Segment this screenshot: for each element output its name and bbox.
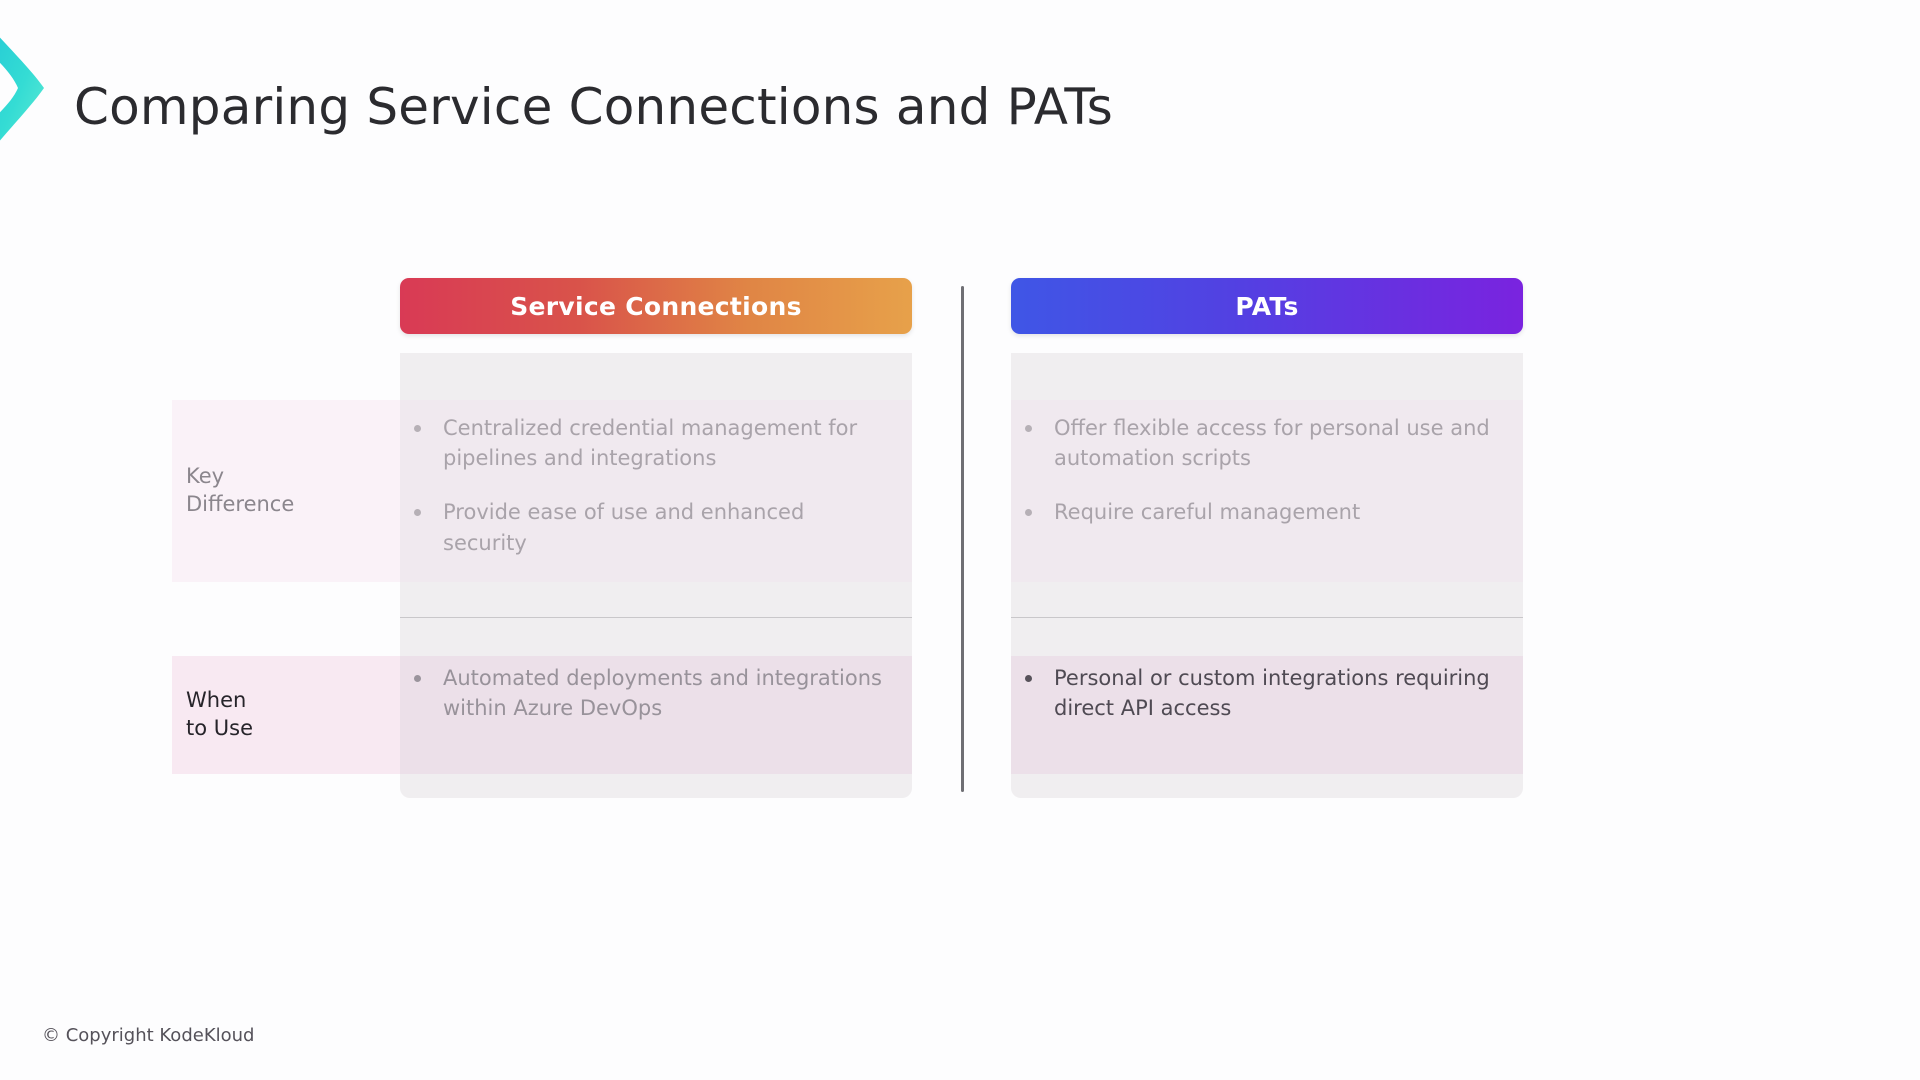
- bullet-icon: [1025, 675, 1032, 682]
- bullet-icon: [414, 425, 421, 432]
- column-header-pats: PATs: [1011, 278, 1523, 334]
- list-item: Centralized credential management for pi…: [414, 413, 888, 473]
- bullet-text: Automated deployments and integrations w…: [443, 663, 888, 723]
- bullet-text: Personal or custom integrations requirin…: [1054, 663, 1499, 723]
- slide: Comparing Service Connections and PATs K…: [0, 0, 1920, 1080]
- row-label-text: Key Difference: [186, 463, 294, 518]
- cell-service-connections-when-to-use: Automated deployments and integrations w…: [414, 663, 898, 723]
- cell-pats-key-difference: Offer flexible access for personal use a…: [1025, 413, 1509, 528]
- list-item: Offer flexible access for personal use a…: [1025, 413, 1499, 473]
- bullet-text: Provide ease of use and enhanced securit…: [443, 497, 888, 557]
- bullet-icon: [414, 675, 421, 682]
- row-separator: [400, 617, 912, 618]
- column-body-pats: Offer flexible access for personal use a…: [1011, 353, 1523, 798]
- column-pats: PATs Offer flexible access for personal …: [1011, 278, 1523, 798]
- bullet-icon: [1025, 425, 1032, 432]
- kodekloud-chevron-icon: [0, 10, 58, 170]
- list-item: Require careful management: [1025, 497, 1499, 527]
- column-service-connections: Service Connections Centralized credenti…: [400, 278, 912, 798]
- list-item: Automated deployments and integrations w…: [414, 663, 888, 723]
- copyright-footer: © Copyright KodeKloud: [42, 1025, 254, 1046]
- bullet-icon: [1025, 509, 1032, 516]
- cell-pats-when-to-use: Personal or custom integrations requirin…: [1025, 663, 1509, 723]
- bullet-text: Centralized credential management for pi…: [443, 413, 888, 473]
- column-header-label: Service Connections: [510, 292, 802, 321]
- column-body-service-connections: Centralized credential management for pi…: [400, 353, 912, 798]
- list-item: Provide ease of use and enhanced securit…: [414, 497, 888, 557]
- column-header-service-connections: Service Connections: [400, 278, 912, 334]
- row-label-when-to-use: When to Use: [172, 656, 420, 774]
- row-label-text: When to Use: [186, 687, 253, 742]
- row-label-key-difference: Key Difference: [172, 400, 420, 582]
- cell-service-connections-key-difference: Centralized credential management for pi…: [414, 413, 898, 558]
- column-header-label: PATs: [1235, 292, 1298, 321]
- bullet-text: Require careful management: [1054, 497, 1360, 527]
- comparison-table: Key Difference When to Use Service Conne…: [0, 278, 1920, 798]
- bullet-icon: [414, 509, 421, 516]
- bullet-text: Offer flexible access for personal use a…: [1054, 413, 1499, 473]
- column-divider: [961, 286, 964, 792]
- row-separator: [1011, 617, 1523, 618]
- page-title: Comparing Service Connections and PATs: [74, 78, 1113, 136]
- list-item: Personal or custom integrations requirin…: [1025, 663, 1499, 723]
